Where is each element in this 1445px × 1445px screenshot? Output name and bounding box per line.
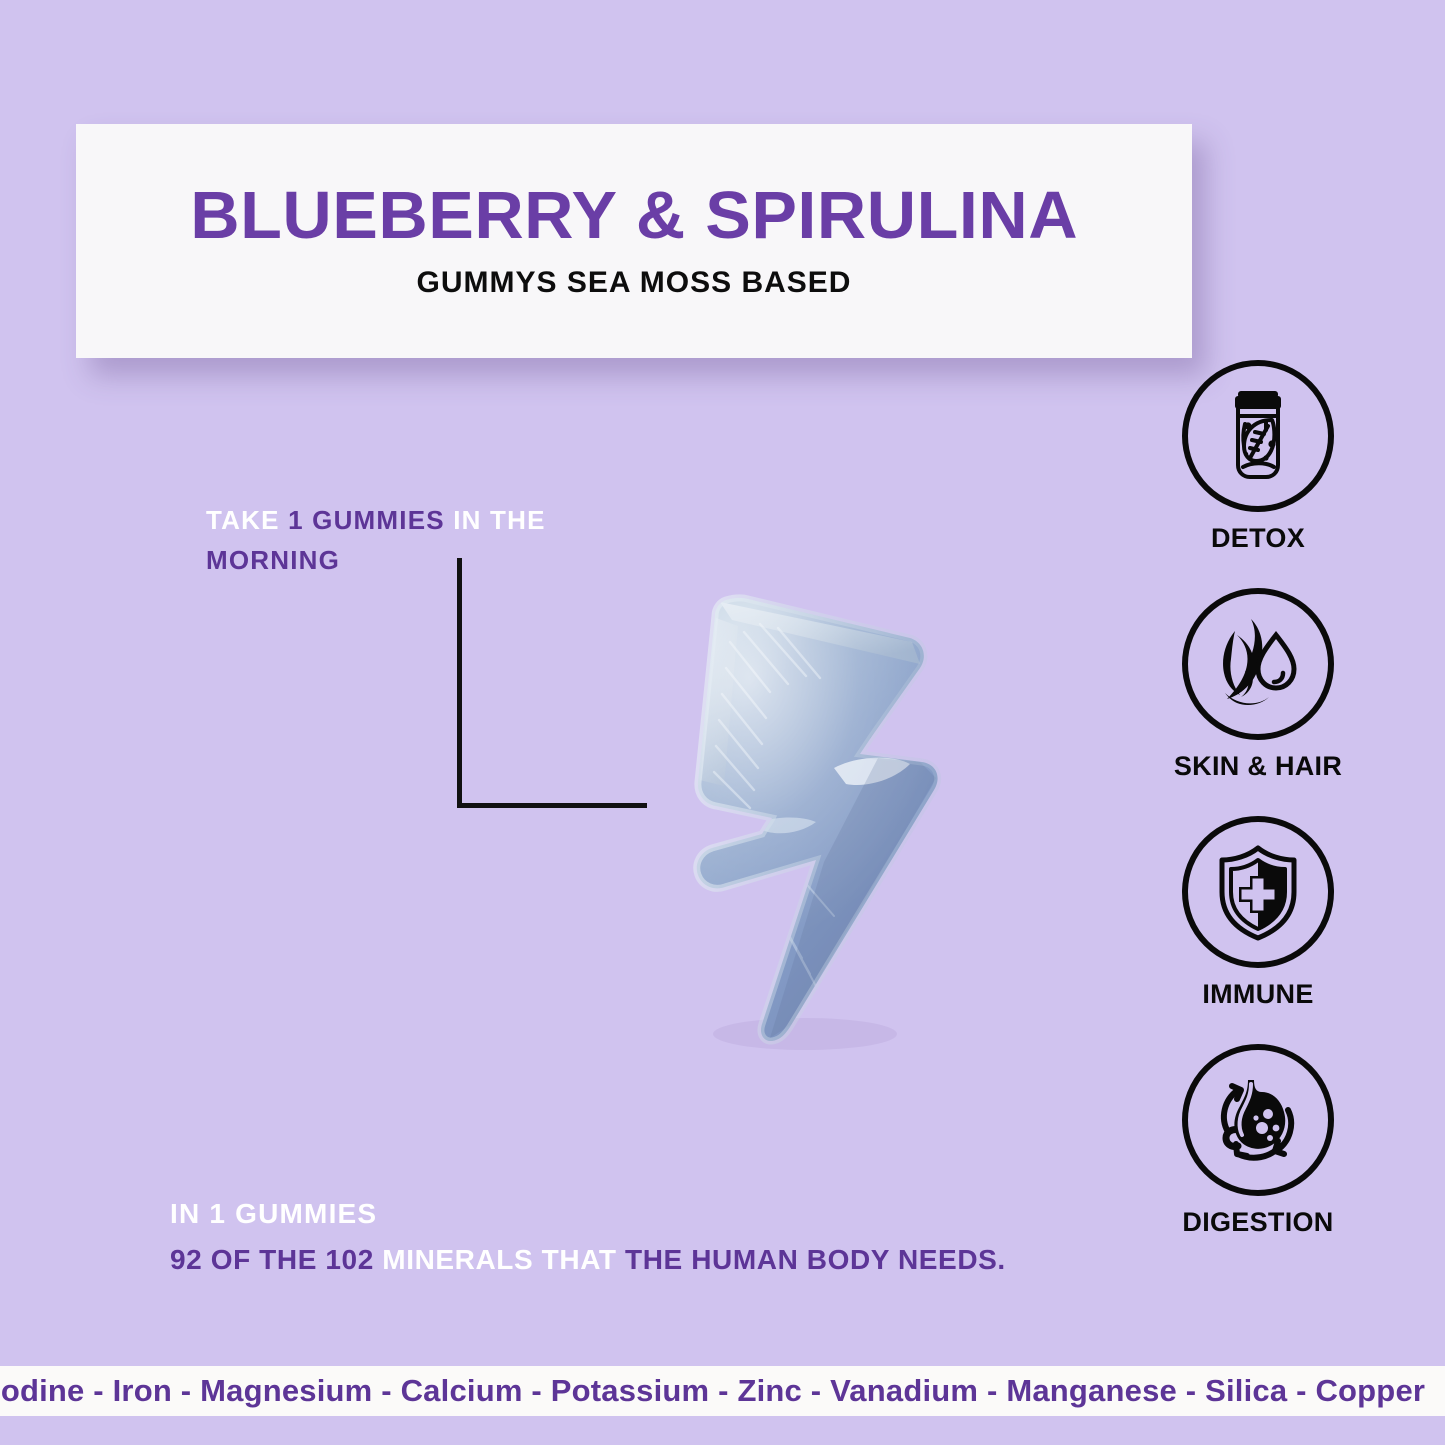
dosage-callout: TAKE 1 GUMMIES IN THE MORNING <box>206 500 636 581</box>
shield-cross-icon <box>1182 816 1334 968</box>
callout-segment-take: TAKE <box>206 505 288 535</box>
benefit-item-skin-hair: SKIN & HAIR <box>1163 588 1353 782</box>
gummy-product-image <box>620 572 980 1054</box>
callout-segment-morning: MORNING <box>206 545 340 575</box>
info-segment-minerals: MINERALS THAT <box>382 1244 625 1275</box>
hair-water-drop-icon <box>1182 588 1334 740</box>
detox-jar-leaf-icon <box>1182 360 1334 512</box>
header-card: BLUEBERRY & SPIRULINA GUMMYS SEA MOSS BA… <box>76 124 1192 358</box>
benefit-label-digestion: DIGESTION <box>1182 1207 1333 1238</box>
info-line-minerals: 92 OF THE 102 MINERALS THAT THE HUMAN BO… <box>170 1244 1130 1276</box>
info-line-servings: IN 1 GUMMIES <box>170 1198 1130 1230</box>
benefits-list: DETOX SKIN & HAIR <box>1163 360 1353 1238</box>
infographic-canvas: BLUEBERRY & SPIRULINA GUMMYS SEA MOSS BA… <box>0 0 1445 1445</box>
minerals-strip: Iodine - Iron - Magnesium - Calcium - Po… <box>0 1366 1445 1416</box>
pointer-line-horizontal <box>457 803 647 808</box>
benefit-item-immune: IMMUNE <box>1163 816 1353 1010</box>
benefit-label-immune: IMMUNE <box>1202 979 1313 1010</box>
stomach-arrows-icon <box>1182 1044 1334 1196</box>
minerals-info-block: IN 1 GUMMIES 92 OF THE 102 MINERALS THAT… <box>170 1198 1130 1276</box>
benefit-item-digestion: DIGESTION <box>1163 1044 1353 1238</box>
benefit-label-detox: DETOX <box>1211 523 1305 554</box>
benefit-label-skin-hair: SKIN & HAIR <box>1174 751 1342 782</box>
page-title: BLUEBERRY & SPIRULINA <box>190 182 1078 250</box>
info-segment-body: THE HUMAN BODY NEEDS. <box>625 1244 1006 1275</box>
benefit-item-detox: DETOX <box>1163 360 1353 554</box>
info-segment-count: 92 OF THE 102 <box>170 1244 382 1275</box>
callout-segment-in: IN <box>453 505 490 535</box>
callout-segment-amount: 1 GUMMIES <box>288 505 453 535</box>
page-subtitle: GUMMYS SEA MOSS BASED <box>417 266 852 300</box>
minerals-strip-text: Iodine - Iron - Magnesium - Calcium - Po… <box>0 1373 1425 1409</box>
callout-segment-the: THE <box>490 505 546 535</box>
pointer-line-vertical <box>457 558 462 808</box>
